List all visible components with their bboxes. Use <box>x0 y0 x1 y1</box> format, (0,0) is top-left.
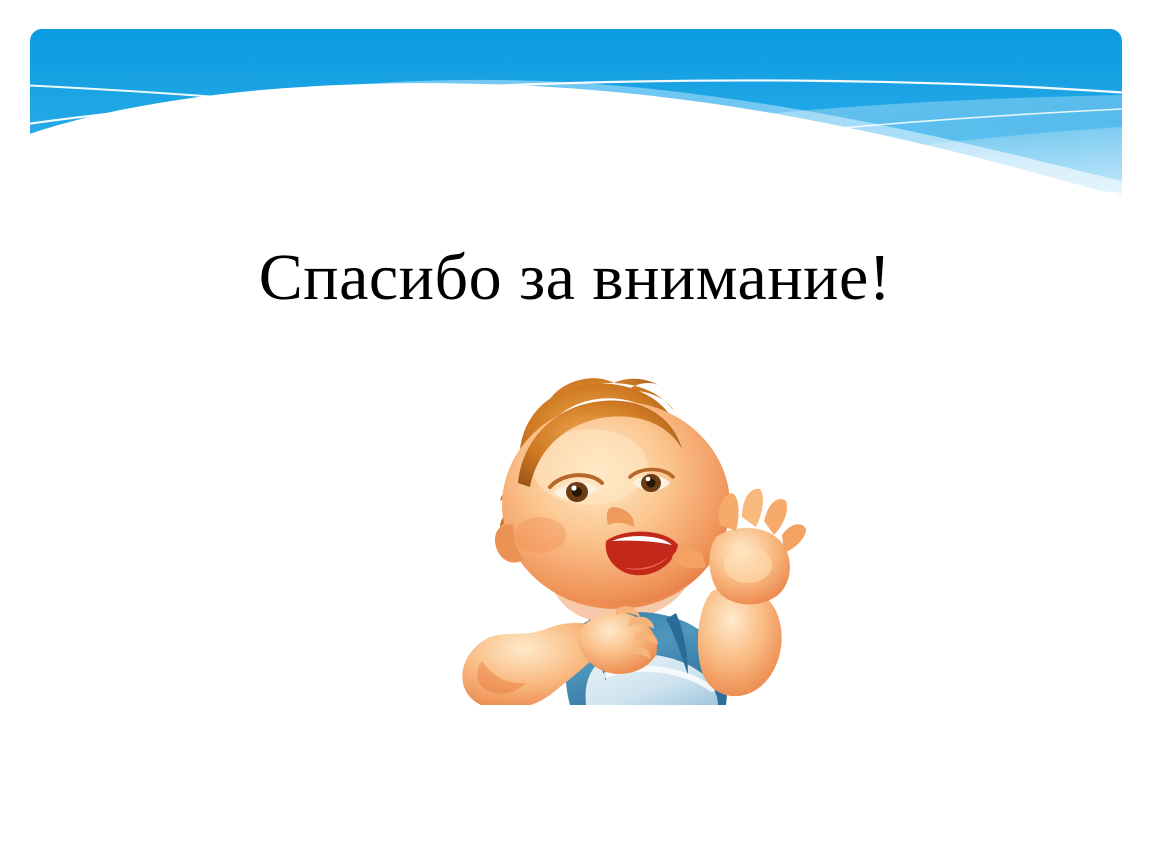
clapping-baby-clipart <box>430 375 820 705</box>
page-title: Спасибо за внимание! <box>0 243 1150 312</box>
baby-cheek <box>514 517 566 553</box>
page-title-text: Спасибо за внимание! <box>259 243 892 312</box>
baby-illustration <box>430 375 820 705</box>
decorative-wave-banner <box>30 29 1122 199</box>
slide-canvas: Спасибо за внимание! <box>0 0 1150 864</box>
banner-graphic <box>30 29 1122 199</box>
